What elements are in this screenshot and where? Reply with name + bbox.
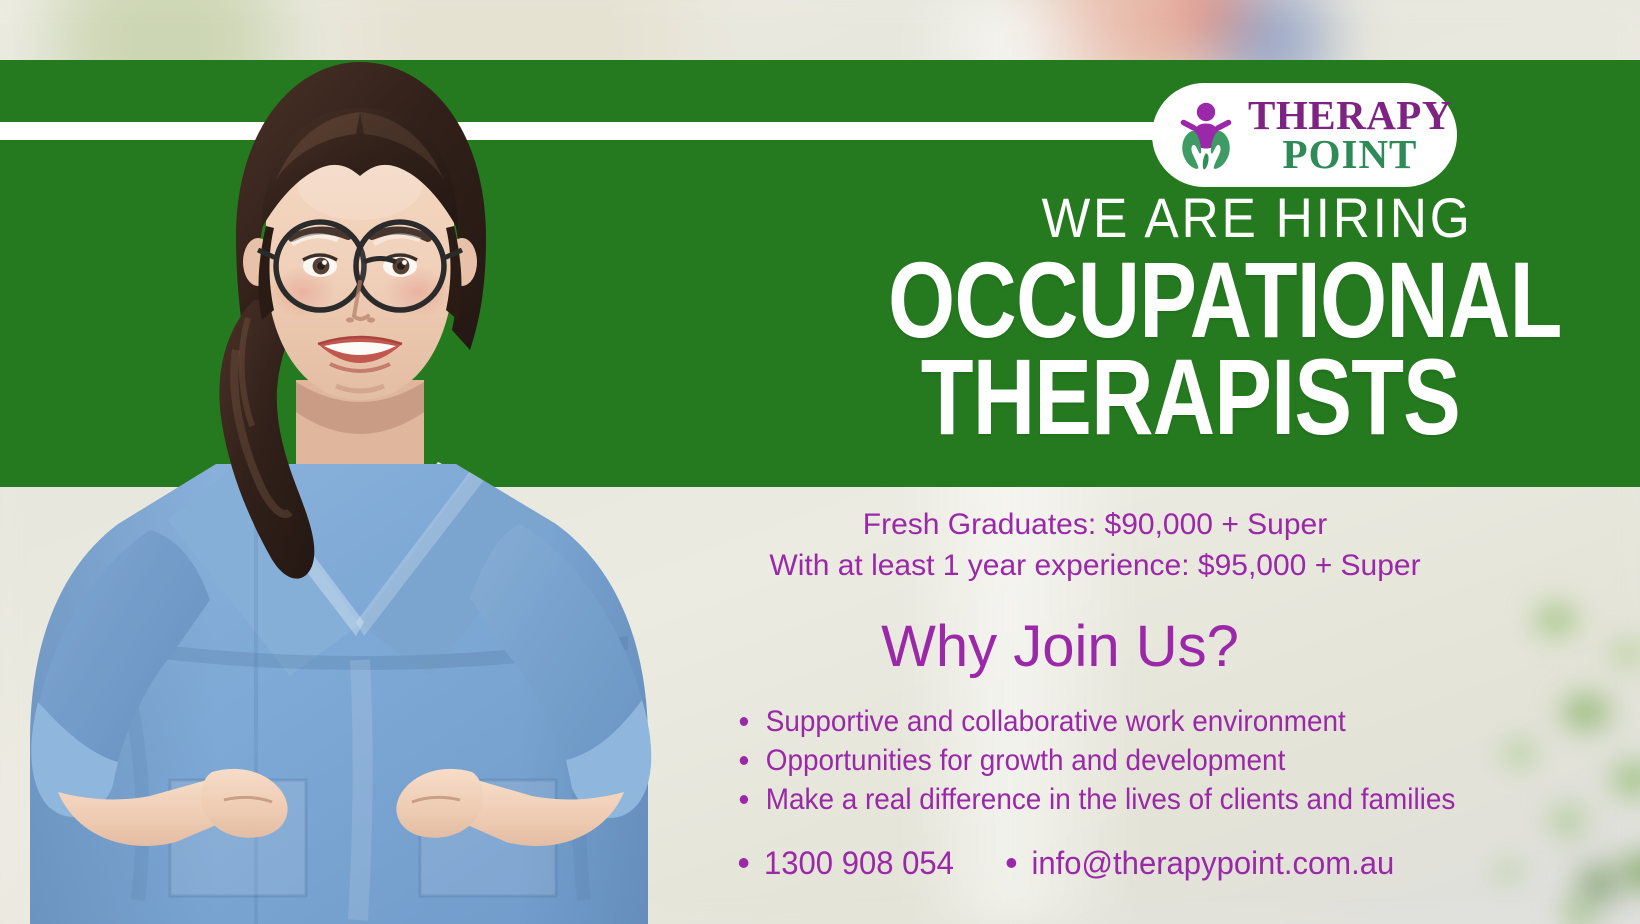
perk-label: Make a real difference in the lives of c…	[766, 783, 1456, 816]
logo-text-point: POINT	[1283, 135, 1418, 174]
list-item: Make a real difference in the lives of c…	[736, 780, 1577, 819]
bullet-dot-icon	[740, 717, 748, 726]
contact-phone[interactable]: 1300 908 054	[764, 845, 954, 882]
perk-label: Supportive and collaborative work enviro…	[766, 705, 1346, 738]
perks-list: Supportive and collaborative work enviro…	[700, 702, 1640, 819]
salary-fresh-graduates: Fresh Graduates: $90,000 + Super	[700, 504, 1490, 545]
why-join-us-heading: Why Join Us?	[700, 613, 1640, 680]
bullet-dot-icon	[1006, 858, 1016, 868]
role-line-1: OCCUPATIONAL	[888, 252, 1640, 347]
eyebrow-we-are-hiring: WE ARE HIRING	[775, 190, 1640, 246]
logo-text-therapy: THERAPY	[1248, 96, 1452, 135]
baby-in-hands-icon	[1170, 97, 1242, 173]
bullet-dot-icon	[740, 795, 748, 804]
therapist-photo	[0, 0, 720, 924]
perk-label: Opportunities for growth and development	[766, 744, 1286, 777]
contact-row: 1300 908 054 info@therapypoint.com.au	[700, 845, 1612, 882]
advert-copy: WE ARE HIRING OCCUPATIONAL THERAPISTS Fr…	[700, 190, 1640, 882]
salary-block: Fresh Graduates: $90,000 + Super With at…	[700, 504, 1640, 587]
list-item: Opportunities for growth and development	[736, 741, 1577, 780]
bullet-dot-icon	[739, 858, 749, 868]
therapy-point-logo: THERAPY POINT	[1152, 83, 1457, 187]
salary-experienced: With at least 1 year experience: $95,000…	[700, 545, 1490, 586]
list-item: Supportive and collaborative work enviro…	[736, 702, 1577, 741]
role-line-2: THERAPISTS	[888, 349, 1640, 444]
contact-email[interactable]: info@therapypoint.com.au	[1031, 845, 1394, 882]
bullet-dot-icon	[740, 756, 748, 765]
